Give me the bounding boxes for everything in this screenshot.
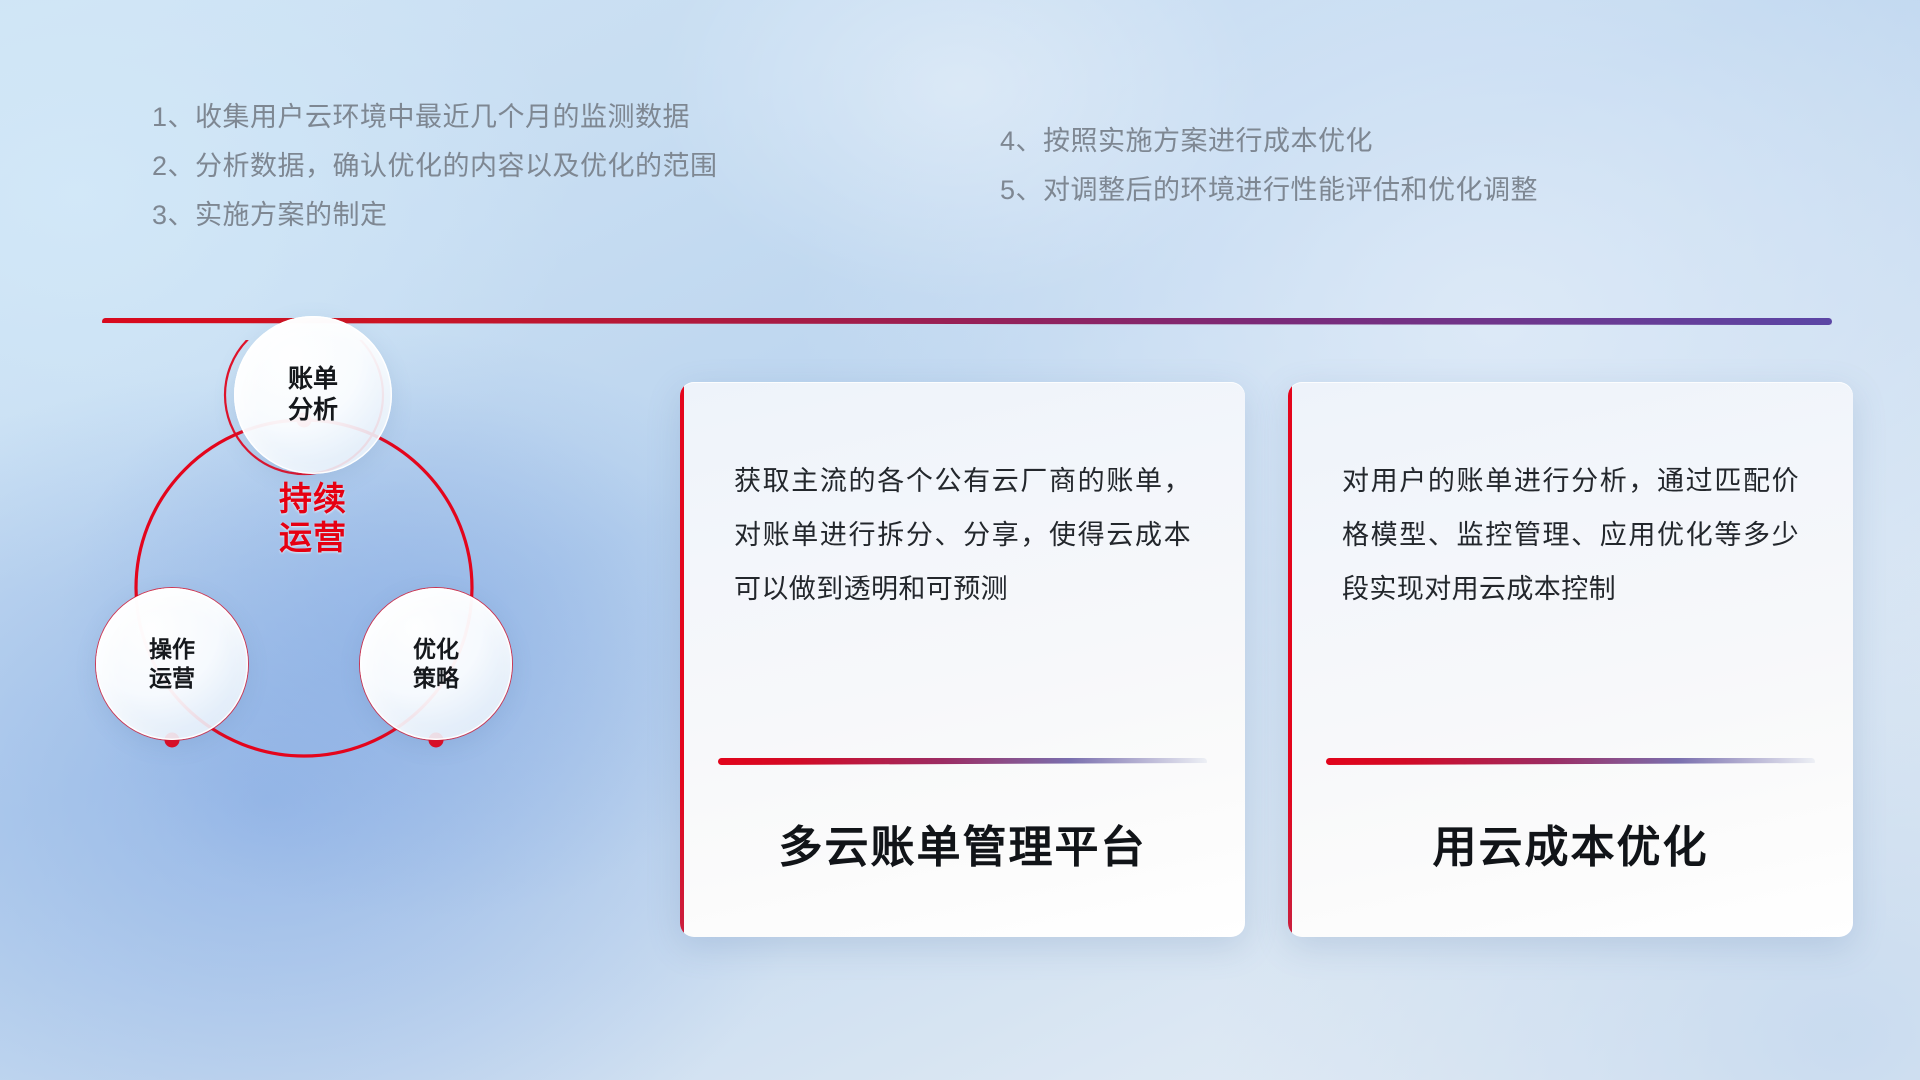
bubble-label-line1: 账单 bbox=[288, 364, 338, 396]
feature-card-multicloud-billing[interactable]: 获取主流的各个公有云厂商的账单，对账单进行拆分、分享，使得云成本可以做到透明和可… bbox=[680, 382, 1245, 937]
section-divider-bar bbox=[102, 318, 1832, 325]
bubble-operations[interactable]: 操作 运营 bbox=[96, 588, 248, 740]
bubble-label-line1: 操作 bbox=[149, 635, 195, 664]
steps-list-left: 1、收集用户云环境中最近几个月的监测数据 2、分析数据，确认优化的内容以及优化的… bbox=[152, 104, 718, 251]
slide-root: 1、收集用户云环境中最近几个月的监测数据 2、分析数据，确认优化的内容以及优化的… bbox=[0, 0, 1920, 1080]
bubble-optimization-strategy[interactable]: 优化 策略 bbox=[360, 588, 512, 740]
step-item-3: 3、实施方案的制定 bbox=[152, 202, 718, 229]
bubble-label-line1: 优化 bbox=[413, 635, 459, 664]
card-title: 多云账单管理平台 bbox=[680, 811, 1245, 875]
card-body-text: 获取主流的各个公有云厂商的账单，对账单进行拆分、分享，使得云成本可以做到透明和可… bbox=[680, 382, 1245, 616]
card-body-text: 对用户的账单进行分析，通过匹配价格模型、监控管理、应用优化等多少段实现对用云成本… bbox=[1288, 382, 1853, 616]
card-title: 用云成本优化 bbox=[1288, 811, 1853, 875]
step-item-2: 2、分析数据，确认优化的内容以及优化的范围 bbox=[152, 153, 718, 180]
center-label-line1: 持续 bbox=[238, 480, 388, 519]
center-label-line2: 运营 bbox=[238, 519, 388, 558]
bubble-label-line2: 分析 bbox=[288, 395, 338, 427]
step-item-1: 1、收集用户云环境中最近几个月的监测数据 bbox=[152, 104, 718, 131]
bubble-bill-analysis[interactable]: 账单 分析 bbox=[234, 316, 392, 474]
steps-list-right: 4、按照实施方案进行成本优化 5、对调整后的环境进行性能评估和优化调整 bbox=[1000, 128, 1538, 226]
card-divider bbox=[1326, 758, 1815, 765]
cycle-diagram: 账单 分析 操作 运营 优化 策略 持续 运营 bbox=[90, 340, 650, 940]
step-item-5: 5、对调整后的环境进行性能评估和优化调整 bbox=[1000, 177, 1538, 204]
bubble-label-line2: 策略 bbox=[413, 664, 459, 693]
card-divider bbox=[718, 758, 1207, 765]
bubble-label-line2: 运营 bbox=[149, 664, 195, 693]
diagram-center-label: 持续 运营 bbox=[238, 480, 388, 558]
feature-card-cost-optimization[interactable]: 对用户的账单进行分析，通过匹配价格模型、监控管理、应用优化等多少段实现对用云成本… bbox=[1288, 382, 1853, 937]
step-item-4: 4、按照实施方案进行成本优化 bbox=[1000, 128, 1538, 155]
